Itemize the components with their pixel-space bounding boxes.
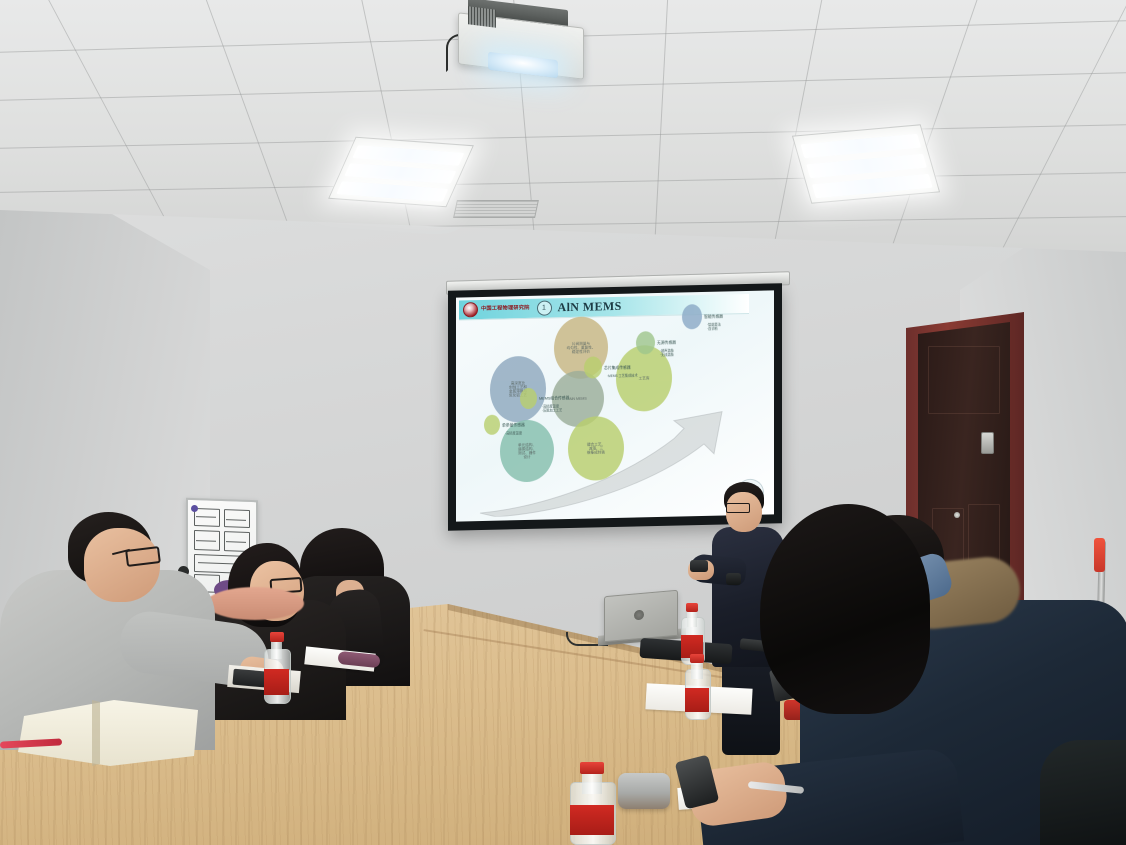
institute-logo-icon: [463, 302, 478, 317]
ceiling-air-vent: [453, 200, 539, 218]
door-peephole-icon: [954, 512, 960, 518]
attendee-man-head: [84, 528, 160, 602]
notebook-page-fold: [92, 700, 100, 766]
ceiling-light-right: [792, 124, 940, 204]
roadmap-milestone-bullets: ·超声激励 ·无线激励: [660, 349, 674, 357]
water-bottle[interactable]: [264, 632, 289, 704]
roadmap-milestone-bullets: ·高精度温度: [505, 431, 522, 435]
door-lock-plate[interactable]: [981, 432, 994, 454]
meeting-room-photo: 中国工程物理研究院 1 AlN MEMS 片间测量与 均匀性、重复性、 稳定性评…: [0, 0, 1126, 845]
whiteboard-magnet-icon: [191, 505, 198, 512]
water-bottle[interactable]: [570, 762, 614, 845]
roadmap-milestone-bullets: ·高精度温度 ·压阻加工工艺: [542, 405, 562, 413]
projector-vent-grille: [468, 6, 496, 27]
cleaning-pole-tip: [1094, 538, 1105, 572]
fur-collar: [206, 587, 304, 620]
roadmap-milestone-label: 无源传感器: [657, 341, 676, 346]
roadmap-milestone-dot: [584, 356, 602, 378]
roadmap-milestone-label: 智能传感器: [704, 315, 723, 320]
wristwatch-icon: [726, 573, 741, 585]
slide-number-badge: 1: [537, 300, 552, 315]
eyeglasses-icon: [726, 503, 750, 513]
water-bottle[interactable]: [685, 654, 709, 720]
roadmap-milestone-label: 芯片集成传感器: [604, 366, 631, 371]
roadmap-milestone-label: MEMS组合传感器: [539, 396, 569, 401]
presentation-clicker[interactable]: [690, 560, 708, 572]
phone-case-grey[interactable]: [618, 773, 670, 809]
slide-title: AlN MEMS: [558, 299, 622, 315]
attendee-far-right-shoulder: [1040, 740, 1126, 845]
roadmap-milestone-dot: [682, 304, 702, 329]
roadmap-milestone-bullets: ·智能算法 ·自诊断: [707, 323, 721, 331]
attendee-navy-parka-hair: [760, 504, 930, 714]
roadmap-milestone-bullets: ·MEMS 工艺集成技术: [607, 373, 638, 378]
institute-name-text: 中国工程物理研究院: [481, 306, 530, 313]
presentation-slide: 中国工程物理研究院 1 AlN MEMS 片间测量与 均匀性、重复性、 稳定性评…: [456, 290, 774, 521]
roadmap-milestone-label: 单参量传感器: [502, 423, 525, 428]
